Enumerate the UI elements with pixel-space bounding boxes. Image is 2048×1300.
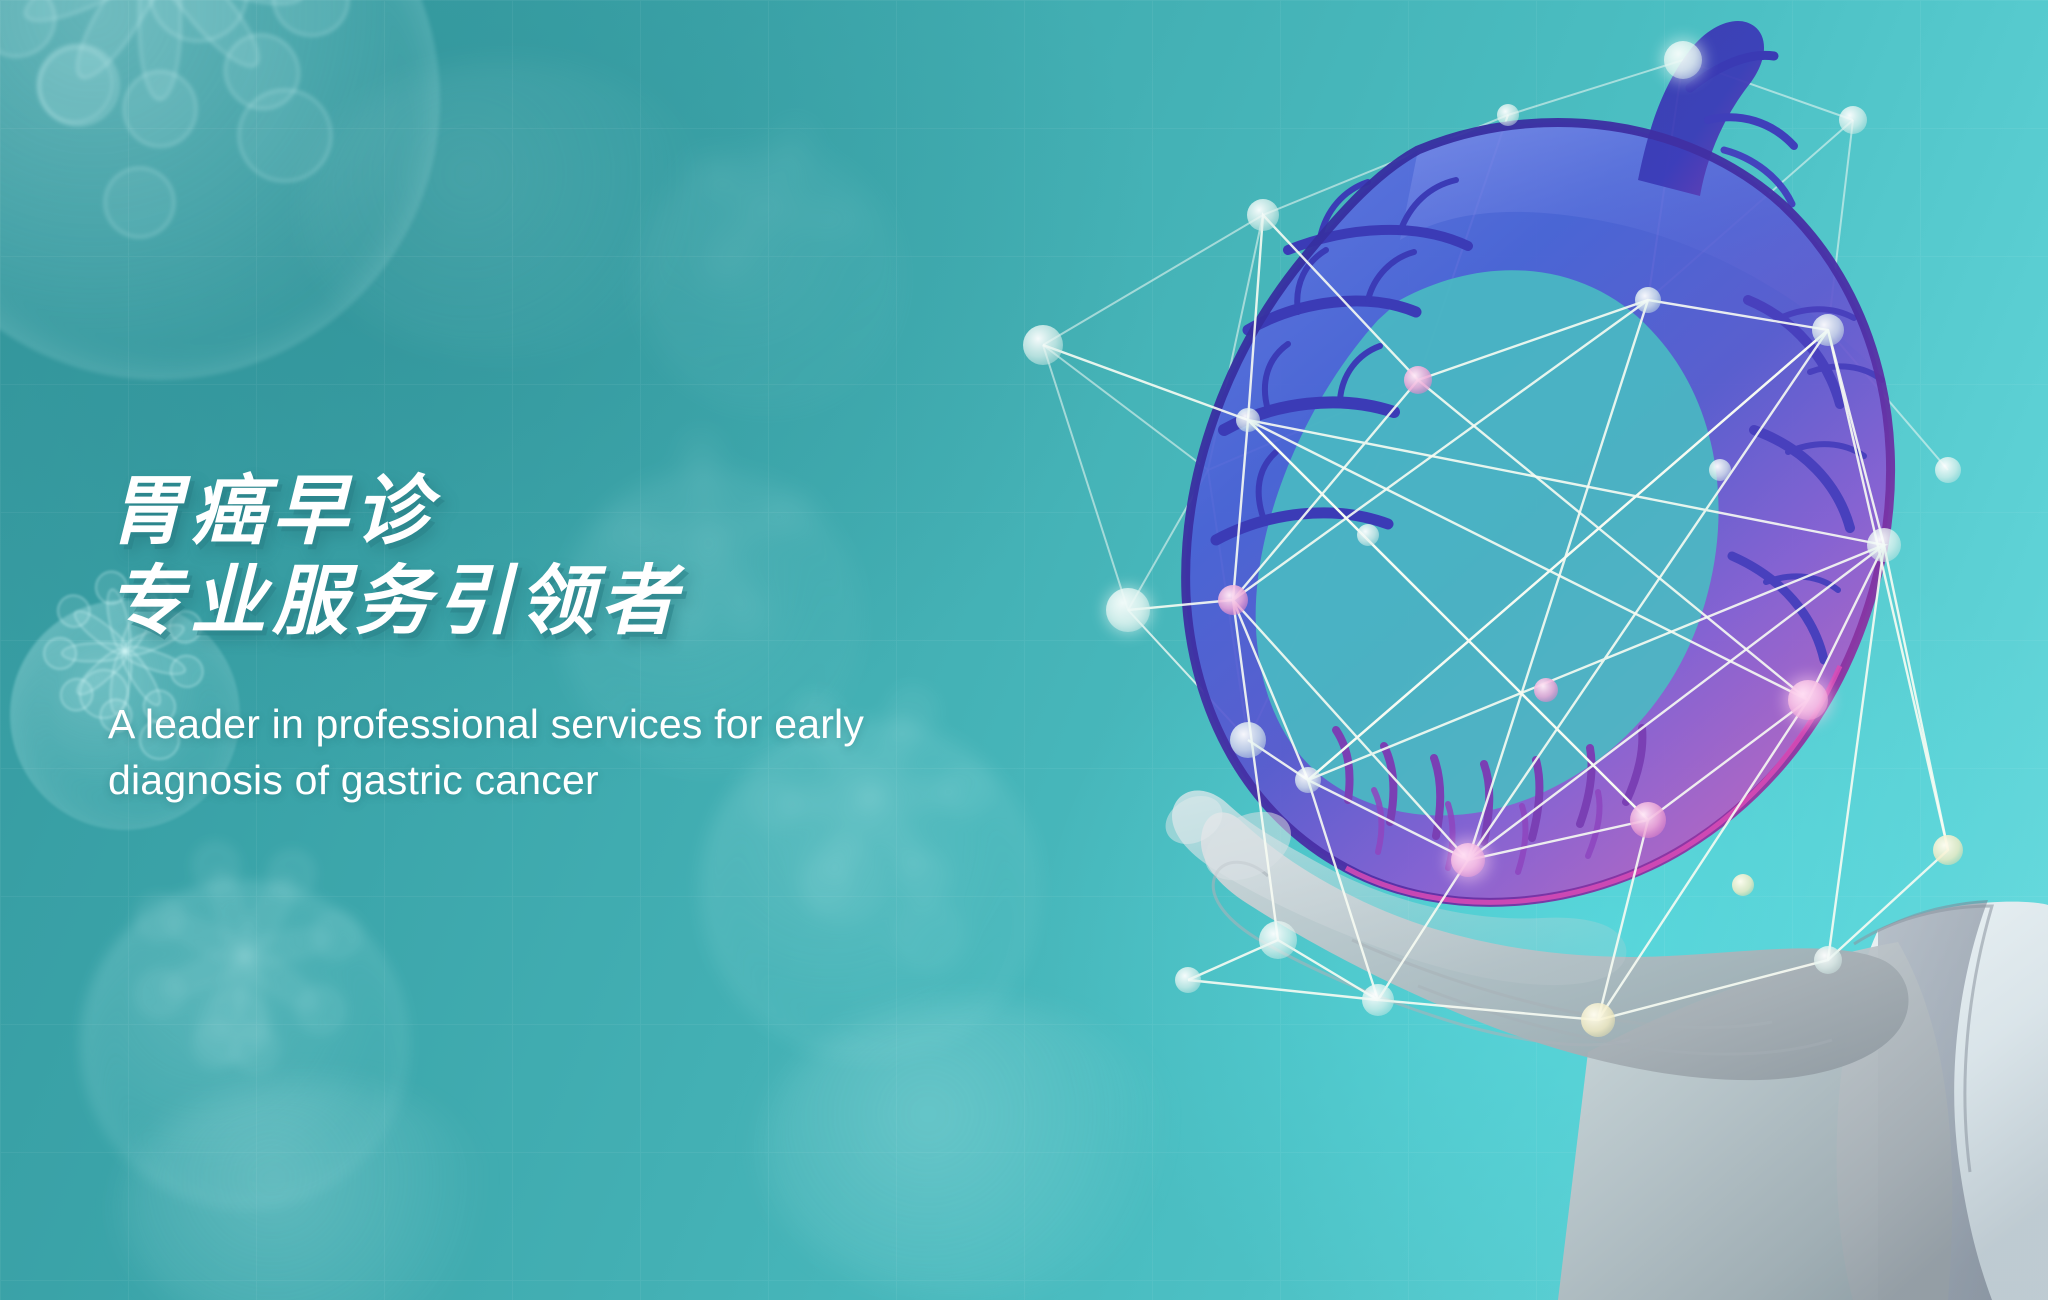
virus-motif-bottom-left: [80, 880, 410, 1210]
headline-line-2: 专业服务引领者: [108, 557, 1128, 647]
esophagus: [1638, 21, 1764, 196]
mesh-node: [1236, 408, 1260, 432]
mesh-node: [1023, 325, 1063, 365]
mesh-node: [1295, 767, 1321, 793]
mesh-node: [1230, 722, 1266, 758]
mesh-node: [1497, 104, 1519, 126]
mesh-node-accent: [1630, 802, 1666, 838]
subhead-line-1: A leader in professional services for ea…: [108, 697, 1118, 753]
mesh-node-accent: [1218, 585, 1248, 615]
mesh-node: [1259, 921, 1297, 959]
virus-motif-top-left: [0, 0, 440, 380]
mesh-node: [1362, 984, 1394, 1016]
mesh-node-accent: [1404, 366, 1432, 394]
cell-motif-upper: [640, 150, 900, 410]
mesh-node: [1839, 106, 1867, 134]
page-subtitle: A leader in professional services for ea…: [108, 697, 1118, 809]
mesh-node: [1247, 199, 1279, 231]
mesh-node: [1814, 946, 1842, 974]
mesh-node: [1935, 457, 1961, 483]
mesh-node: [1709, 459, 1731, 481]
mesh-node: [1357, 524, 1379, 546]
soft-glow-blob: [120, 1080, 500, 1300]
soft-glow-blob: [300, 60, 720, 360]
mesh-node: [1175, 967, 1201, 993]
mesh-node: [1867, 528, 1901, 562]
mesh-node-accent: [1581, 1003, 1615, 1037]
hero-copy: 胃癌早诊 专业服务引领者 A leader in professional se…: [108, 416, 1128, 850]
hero-banner: 胃癌早诊 专业服务引领者 A leader in professional se…: [0, 0, 2048, 1300]
vessel-branch: [1708, 117, 1794, 146]
mesh-node: [1635, 287, 1661, 313]
mesh-node-accent: [1933, 835, 1963, 865]
mesh-node-accent: [1534, 678, 1558, 702]
mesh-node-accent: [1732, 874, 1754, 896]
subhead-line-2: diagnosis of gastric cancer: [108, 753, 1118, 809]
mesh-node: [1812, 314, 1844, 346]
page-title: 胃癌早诊 专业服务引领者: [108, 467, 1128, 646]
headline-line-1: 胃癌早诊: [108, 467, 1128, 557]
